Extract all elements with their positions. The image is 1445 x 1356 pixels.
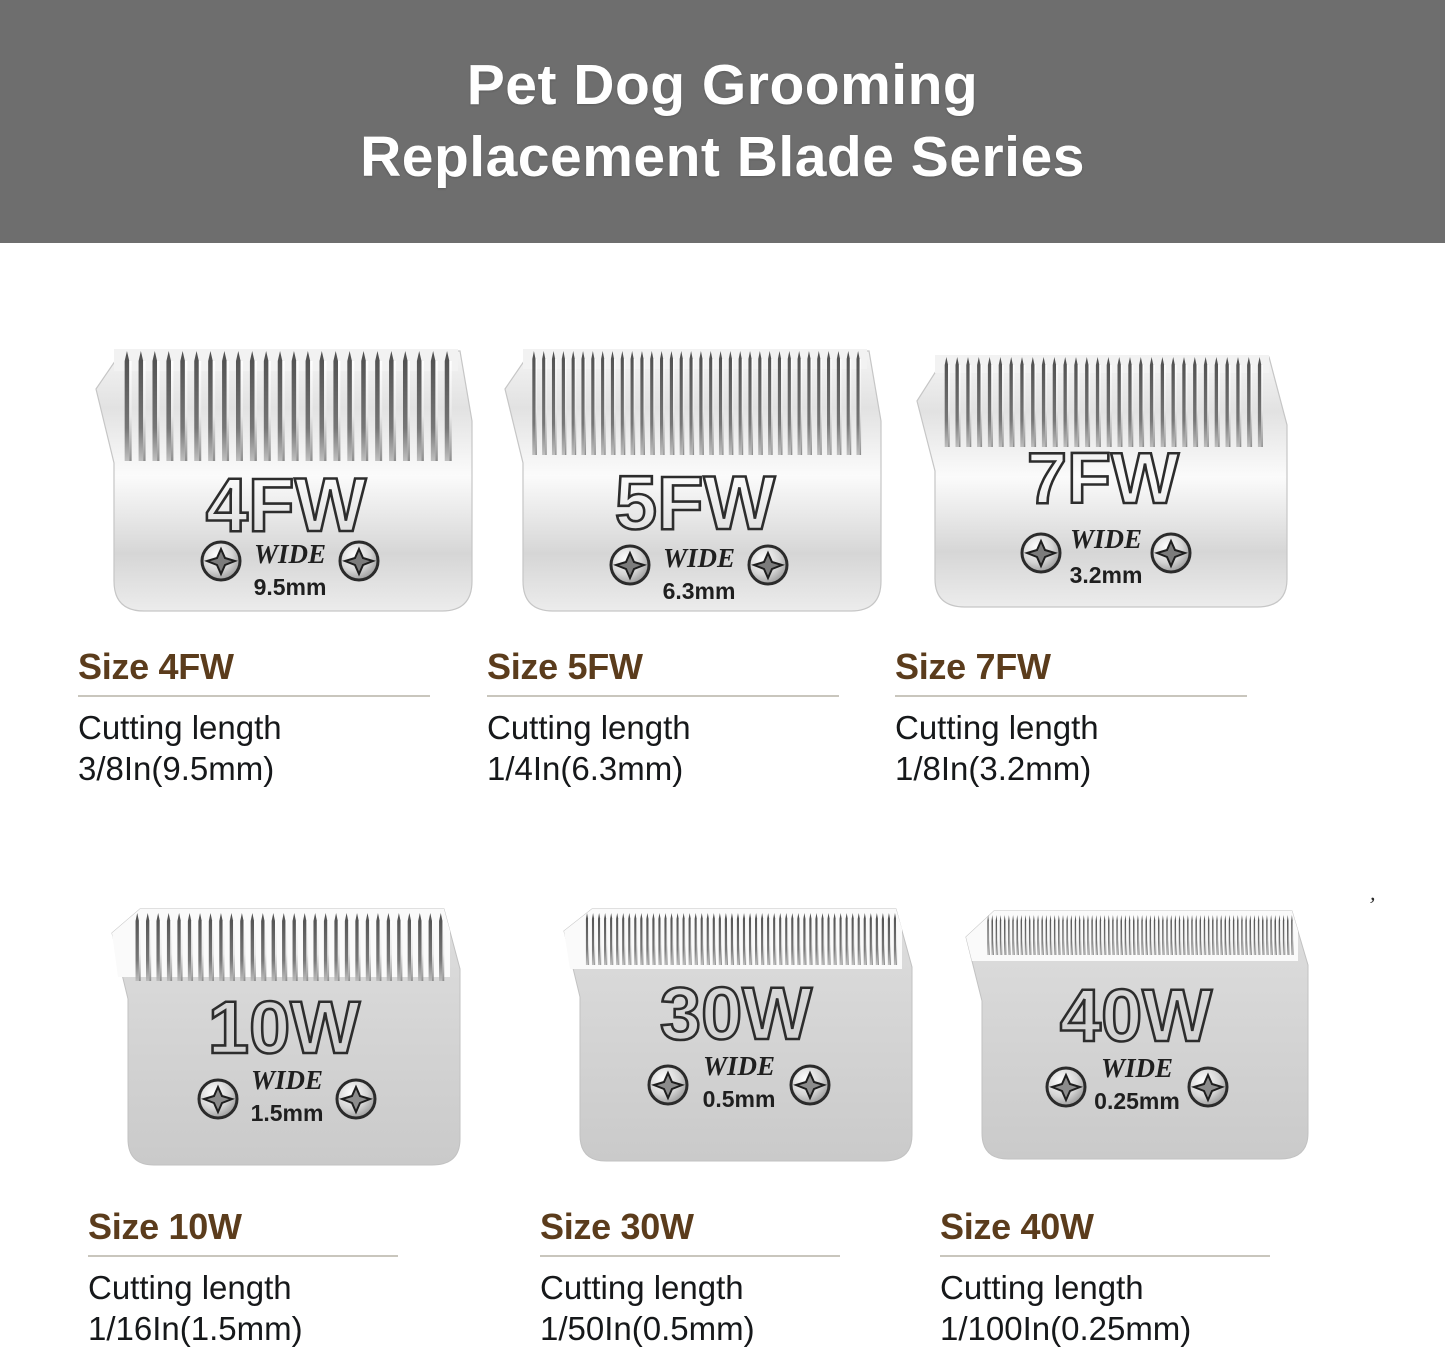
title-divider — [88, 1255, 398, 1257]
blade-image-40w: 40W WIDE 0.25mm — [940, 903, 1360, 1208]
cutting-length-label: Cutting length — [88, 1267, 508, 1309]
cutting-length-label: Cutting length — [895, 707, 1315, 749]
engraved-size-text: 4FW — [206, 463, 367, 548]
blade-card-5fw[interactable]: 5FW WIDE 6.3mm Size 5FW Cutting length 1… — [487, 343, 907, 790]
blade-info-4fw: Size 4FW Cutting length 3/8In(9.5mm) — [78, 648, 498, 790]
header-banner: Pet Dog Grooming Replacement Blade Serie… — [0, 0, 1445, 243]
blade-image-5fw: 5FW WIDE 6.3mm — [487, 343, 907, 648]
engraved-wide-text: WIDE — [251, 1065, 323, 1095]
cutting-length-label: Cutting length — [540, 1267, 960, 1309]
size-title: Size 30W — [540, 1208, 960, 1246]
blade-illustration: 7FW WIDE 3.2mm — [895, 343, 1295, 643]
cutting-length-value: 1/100In(0.25mm) — [940, 1308, 1360, 1350]
engraved-wide-text: WIDE — [254, 539, 326, 569]
blade-card-40w[interactable]: 40W WIDE 0.25mm Size 40W Cutting length … — [940, 903, 1360, 1350]
blade-card-30w[interactable]: 30W WIDE 0.5mm Size 30W Cutting length 1… — [540, 903, 960, 1350]
cutting-length-value: 1/50In(0.5mm) — [540, 1308, 960, 1350]
blade-image-4fw: 4FW WIDE 9.5mm — [78, 343, 498, 648]
engraved-size-text: 40W — [1060, 974, 1212, 1057]
cutting-length-value: 1/4In(6.3mm) — [487, 748, 907, 790]
title-divider — [940, 1255, 1270, 1257]
engraved-mm-text: 9.5mm — [254, 574, 327, 600]
cutting-length-value: 1/16In(1.5mm) — [88, 1308, 508, 1350]
title-divider — [895, 695, 1247, 697]
size-title: Size 10W — [88, 1208, 508, 1246]
blade-grid: 4FW WIDE 9.5mm Size 4FW Cutting length 3… — [0, 243, 1445, 1356]
blade-card-10w[interactable]: 10W WIDE 1.5mm Size 10W Cutting length 1… — [88, 903, 508, 1350]
blade-image-30w: 30W WIDE 0.5mm — [540, 903, 960, 1208]
engraved-mm-text: 1.5mm — [251, 1100, 324, 1126]
engraved-mm-text: 6.3mm — [663, 578, 736, 604]
engraved-size-text: 5FW — [615, 461, 776, 546]
size-title: Size 4FW — [78, 648, 498, 686]
engraved-wide-text: WIDE — [663, 543, 735, 573]
engraved-mm-text: 3.2mm — [1070, 562, 1143, 588]
size-title: Size 5FW — [487, 648, 907, 686]
engraved-wide-text: WIDE — [1070, 524, 1142, 554]
title-divider — [540, 1255, 840, 1257]
size-title: Size 40W — [940, 1208, 1360, 1246]
blade-illustration: 40W WIDE 0.25mm — [940, 903, 1330, 1203]
blade-illustration: 30W WIDE 0.5mm — [540, 903, 930, 1203]
cutting-length-label: Cutting length — [487, 707, 907, 749]
engraved-wide-text: WIDE — [1101, 1053, 1173, 1083]
cutting-length-value: 3/8In(9.5mm) — [78, 748, 498, 790]
blade-info-7fw: Size 7FW Cutting length 1/8In(3.2mm) — [895, 648, 1315, 790]
title-divider — [78, 695, 430, 697]
engraved-size-text: 30W — [660, 972, 812, 1055]
blade-info-10w: Size 10W Cutting length 1/16In(1.5mm) — [88, 1208, 508, 1350]
title-divider — [487, 695, 839, 697]
blade-illustration: 5FW WIDE 6.3mm — [487, 343, 887, 643]
page-title: Pet Dog Grooming Replacement Blade Serie… — [360, 50, 1085, 193]
cutting-length-label: Cutting length — [78, 707, 498, 749]
engraved-size-text: 7FW — [1027, 439, 1179, 519]
engraved-mm-text: 0.25mm — [1094, 1088, 1180, 1114]
cutting-length-value: 1/8In(3.2mm) — [895, 748, 1315, 790]
engraved-wide-text: WIDE — [703, 1051, 775, 1081]
blade-info-30w: Size 30W Cutting length 1/50In(0.5mm) — [540, 1208, 960, 1350]
blade-image-10w: 10W WIDE 1.5mm — [88, 903, 508, 1208]
cutting-length-label: Cutting length — [940, 1267, 1360, 1309]
blade-card-4fw[interactable]: 4FW WIDE 9.5mm Size 4FW Cutting length 3… — [78, 343, 498, 790]
blade-illustration: 10W WIDE 1.5mm — [88, 903, 478, 1203]
blade-image-7fw: 7FW WIDE 3.2mm — [895, 343, 1315, 648]
blade-illustration: 4FW WIDE 9.5mm — [78, 343, 478, 643]
blade-card-7fw[interactable]: 7FW WIDE 3.2mm Size 7FW Cutting length 1… — [895, 343, 1315, 790]
engraved-size-text: 10W — [208, 986, 360, 1069]
size-title: Size 7FW — [895, 648, 1315, 686]
blade-info-5fw: Size 5FW Cutting length 1/4In(6.3mm) — [487, 648, 907, 790]
blade-info-40w: Size 40W Cutting length 1/100In(0.25mm) — [940, 1208, 1360, 1350]
engraved-mm-text: 0.5mm — [703, 1086, 776, 1112]
